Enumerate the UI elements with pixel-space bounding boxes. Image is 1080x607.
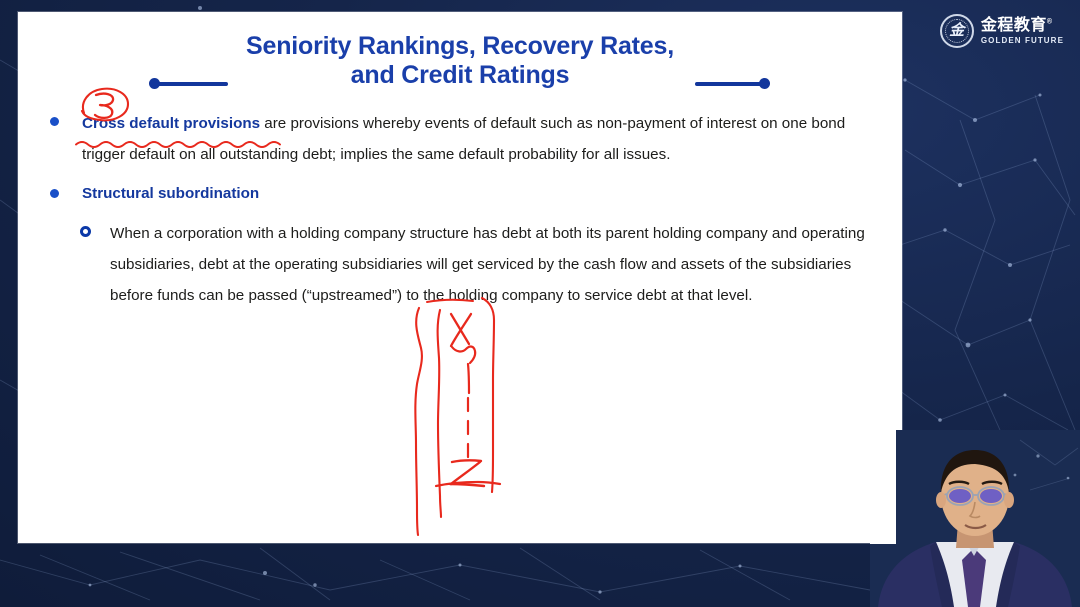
bullet-ring-icon <box>80 226 91 237</box>
ink-bracket <box>415 298 500 535</box>
bullet-disc-icon <box>50 117 59 126</box>
presentation-slide: Seniority Rankings, Recovery Rates, and … <box>18 12 902 543</box>
presenter-video-frame <box>870 430 1080 607</box>
bullet-item-structural-subordination: Structural subordination <box>18 180 902 208</box>
title-line-2: and Credit Ratings <box>200 61 720 90</box>
ink-mark-x <box>451 314 475 393</box>
title-rule-right <box>695 82 765 86</box>
logo-seal-icon: 金 <box>940 14 974 48</box>
title-rule-left <box>155 82 228 86</box>
slide-title: Seniority Rankings, Recovery Rates, and … <box>18 32 902 90</box>
sub-bullet-item-holding-company: When a corporation with a holding compan… <box>18 218 902 311</box>
brand-logo: 金 金程教育® GOLDEN FUTURE <box>940 14 1064 48</box>
presenter-webcam <box>870 430 1080 607</box>
heading-structural-subordination: Structural subordination <box>82 180 880 208</box>
sub-bullet-text: When a corporation with a holding compan… <box>110 218 880 311</box>
title-text: Seniority Rankings, Recovery Rates, and … <box>200 32 720 90</box>
term-cross-default-provisions: Cross default provisions <box>82 115 260 132</box>
bullet-item-cross-default: Cross default provisions are provisions … <box>18 108 902 170</box>
registered-mark-icon: ® <box>1047 18 1053 25</box>
ink-mark-z <box>450 460 484 486</box>
logo-brand-cn: 金程教育® <box>981 18 1064 34</box>
logo-text-block: 金程教育® GOLDEN FUTURE <box>981 18 1064 45</box>
slide-body: Cross default provisions are provisions … <box>18 108 902 311</box>
bullet-disc-icon <box>50 189 59 198</box>
logo-seal-glyph: 金 <box>949 24 964 39</box>
title-line-1: Seniority Rankings, Recovery Rates, <box>200 32 720 61</box>
logo-brand-en: GOLDEN FUTURE <box>981 37 1064 45</box>
title-dot-right-icon <box>759 78 770 89</box>
bullet-text-cross-default: Cross default provisions are provisions … <box>82 108 880 170</box>
